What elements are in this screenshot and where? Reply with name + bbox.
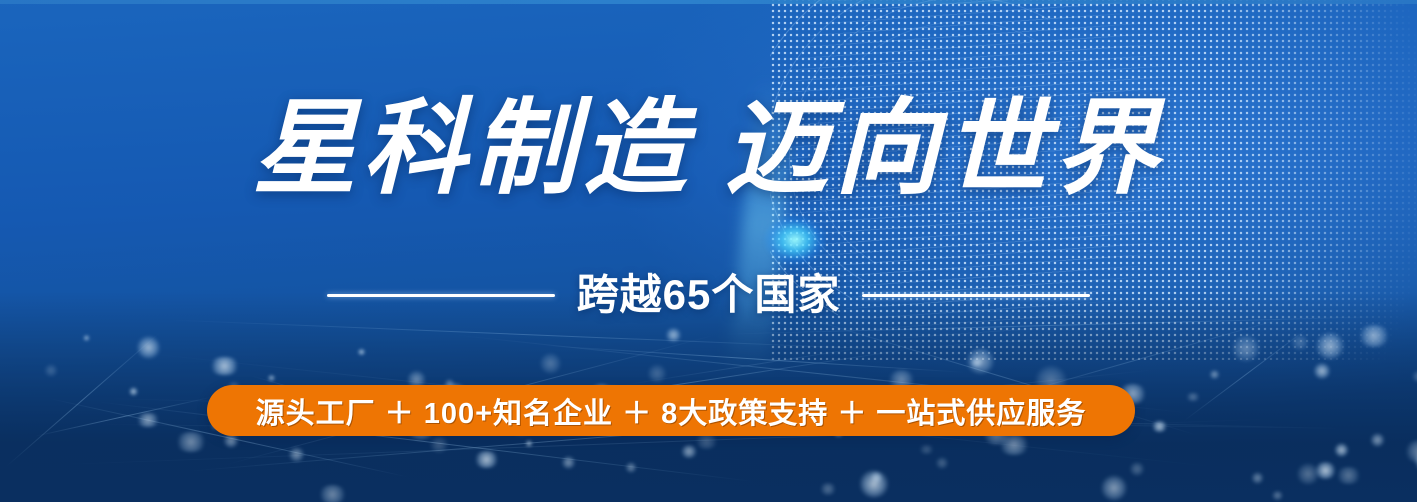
- highlight-pill[interactable]: 源头工厂 ＋ 100+知名企业 ＋ 8大政策支持 ＋ 一站式供应服务: [207, 385, 1135, 436]
- subtitle-row: 跨越65个国家: [0, 267, 1417, 323]
- banner-title: 星科制造 迈向世界: [0, 96, 1417, 204]
- divider-left: [327, 294, 555, 297]
- highlight-pill-label: 源头工厂 ＋ 100+知名企业 ＋ 8大政策支持 ＋ 一站式供应服务: [256, 390, 1087, 432]
- banner-subtitle: 跨越65个国家: [577, 267, 841, 323]
- banner-content: 星科制造 迈向世界 跨越65个国家 源头工厂 ＋ 100+知名企业 ＋ 8大政策…: [0, 0, 1417, 502]
- divider-right: [862, 294, 1090, 297]
- promo-banner: 星科制造 迈向世界 跨越65个国家 源头工厂 ＋ 100+知名企业 ＋ 8大政策…: [0, 0, 1417, 502]
